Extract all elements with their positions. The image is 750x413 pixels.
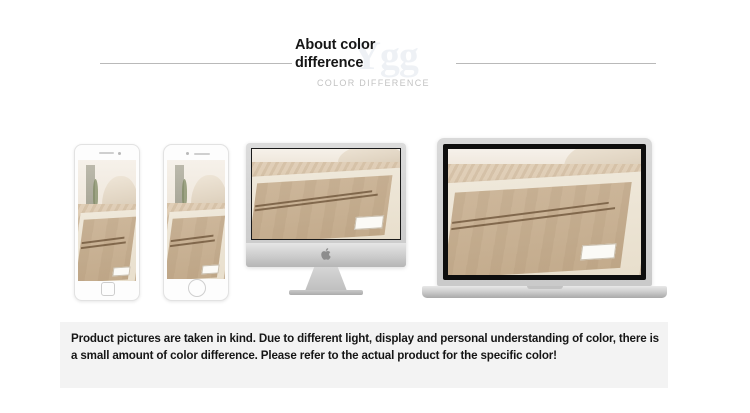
apple-logo-icon xyxy=(321,248,332,260)
scene-rug-field xyxy=(251,175,392,240)
scene-rug-field xyxy=(448,182,632,275)
header-divider-right xyxy=(456,63,656,64)
macbook-screen xyxy=(448,149,641,275)
phone1-earpiece-icon xyxy=(99,152,114,154)
scene-product-tag xyxy=(112,267,130,277)
phone1-camera-icon xyxy=(118,152,121,155)
macbook-lid xyxy=(437,138,652,286)
imac-stand-foot xyxy=(289,290,363,295)
scene-rug-border xyxy=(78,209,136,281)
page-header: Ygg COLOR DIFFERENCE About color differe… xyxy=(0,0,750,118)
phone1-screen xyxy=(78,160,136,281)
imac-screen xyxy=(251,148,401,240)
page-title: About color difference xyxy=(295,36,393,72)
header-title-block: About color difference COLOR DIFFERENCE xyxy=(295,36,465,88)
scene-rug-border xyxy=(167,208,225,279)
macbook-base xyxy=(422,286,667,298)
scene-rug-border xyxy=(448,170,641,275)
scene-rug-stripe xyxy=(255,191,372,208)
device-smartphone-1 xyxy=(74,144,140,301)
macbook-trackpad-notch xyxy=(527,286,563,289)
scene-rug-border xyxy=(251,168,401,240)
scene-product-tag xyxy=(201,265,219,275)
scene-product-tag xyxy=(354,216,384,231)
imac-stand-neck xyxy=(305,267,347,291)
device-smartphone-2 xyxy=(163,144,229,301)
imac-chin xyxy=(246,243,406,267)
phone2-earpiece-icon xyxy=(194,153,210,155)
imac-body xyxy=(246,143,406,267)
macbook-screen-bezel xyxy=(443,144,646,280)
device-showcase xyxy=(0,118,750,313)
phone2-home-button[interactable] xyxy=(188,279,206,297)
header-divider-left xyxy=(100,63,292,64)
scene-plant xyxy=(93,179,98,206)
page-subtitle: COLOR DIFFERENCE xyxy=(317,78,465,88)
scene-product-tag xyxy=(581,243,617,260)
phone2-screen xyxy=(167,160,225,279)
phone1-home-button[interactable] xyxy=(101,282,115,296)
disclaimer-text: Product pictures are taken in kind. Due … xyxy=(71,331,659,364)
phone2-camera-icon xyxy=(186,152,189,155)
disclaimer-banner: Product pictures are taken in kind. Due … xyxy=(60,322,668,388)
